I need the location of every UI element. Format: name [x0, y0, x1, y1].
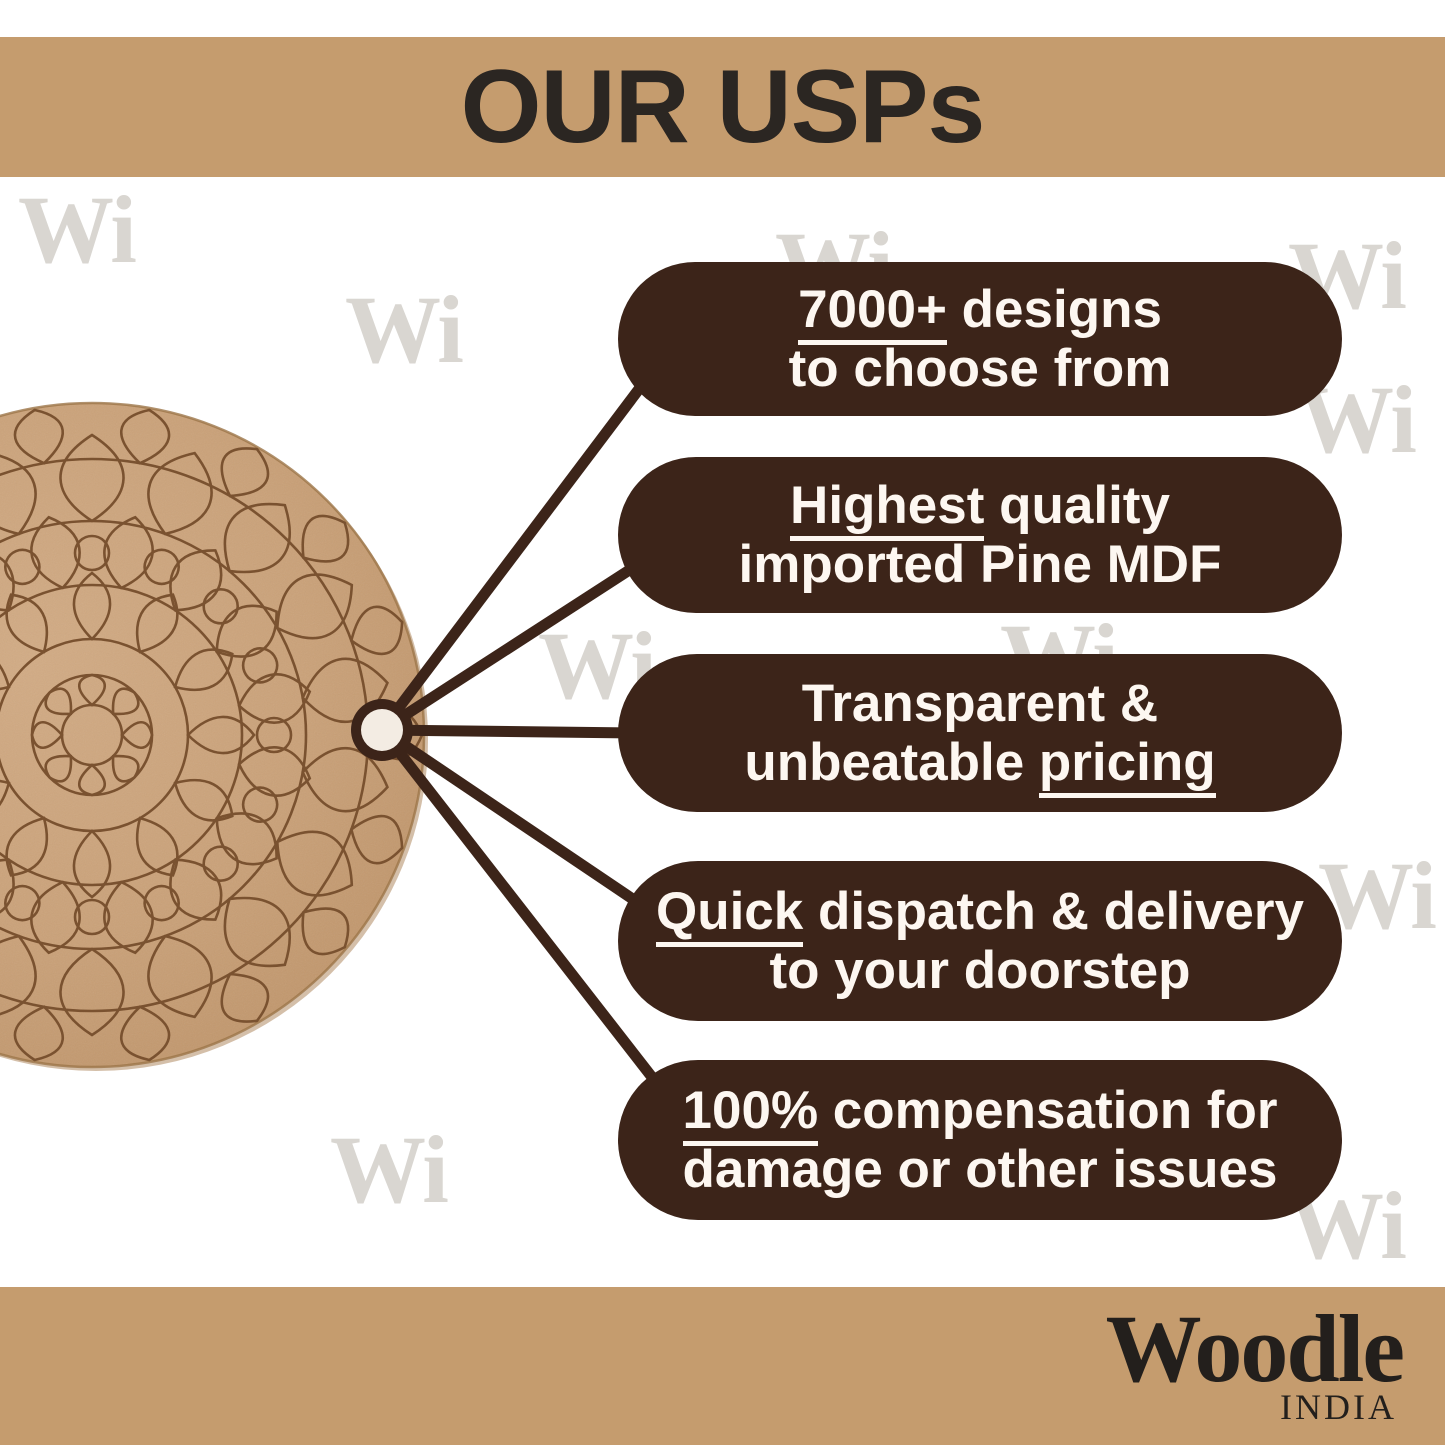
usp-card-pricing[interactable]: Transparent &unbeatable pricing — [618, 654, 1342, 812]
usp-emphasis-pricing: pricing — [1039, 733, 1216, 798]
page-title: OUR USPs — [0, 37, 1445, 177]
usp-card-compensation[interactable]: 100% compensation fordamage or other iss… — [618, 1060, 1342, 1220]
connector-line-3 — [382, 730, 640, 733]
usp-emphasis-dispatch: Quick — [656, 882, 803, 947]
usp-emphasis-designs: 7000+ — [798, 280, 947, 345]
usp-line1-rest-dispatch: dispatch & delivery — [803, 882, 1304, 941]
usp-card-designs-text: 7000+ designsto choose from — [789, 280, 1172, 399]
usp-hub-node — [350, 698, 414, 762]
usp-card-compensation-text: 100% compensation fordamage or other iss… — [683, 1081, 1278, 1200]
usp-emphasis-quality: Highest — [790, 476, 984, 541]
usp-card-pricing-text: Transparent &unbeatable pricing — [744, 674, 1215, 793]
connector-line-2 — [382, 558, 648, 730]
usp-line2-compensation: damage or other issues — [683, 1140, 1278, 1199]
usp-line2-dispatch: to your doorstep — [769, 941, 1190, 1000]
usp-card-quality[interactable]: Highest qualityimported Pine MDF — [618, 457, 1342, 613]
usp-line2-designs: to choose from — [789, 339, 1172, 398]
usp-line2-quality: imported Pine MDF — [739, 535, 1222, 594]
usp-line2-pre-pricing: unbeatable — [744, 733, 1039, 792]
connector-line-4 — [382, 730, 652, 912]
usp-line1-rest-designs: designs — [947, 280, 1162, 339]
usp-line1-rest-quality: quality — [984, 476, 1170, 535]
usp-line1-pricing: Transparent & — [802, 674, 1158, 733]
usp-infographic: WiWiWiWiWiWiWiWiWiWi — [0, 0, 1445, 1445]
usp-emphasis-compensation: 100% — [683, 1081, 819, 1146]
usp-card-designs[interactable]: 7000+ designsto choose from — [618, 262, 1342, 416]
usp-line1-rest-compensation: compensation for — [818, 1081, 1277, 1140]
usp-card-dispatch-text: Quick dispatch & deliveryto your doorste… — [656, 882, 1304, 1001]
usp-card-dispatch[interactable]: Quick dispatch & deliveryto your doorste… — [618, 861, 1342, 1021]
brand-logo: Woodle INDIA — [1106, 1303, 1403, 1425]
brand-logo-word: Woodle — [1106, 1303, 1403, 1395]
usp-card-quality-text: Highest qualityimported Pine MDF — [739, 476, 1222, 595]
